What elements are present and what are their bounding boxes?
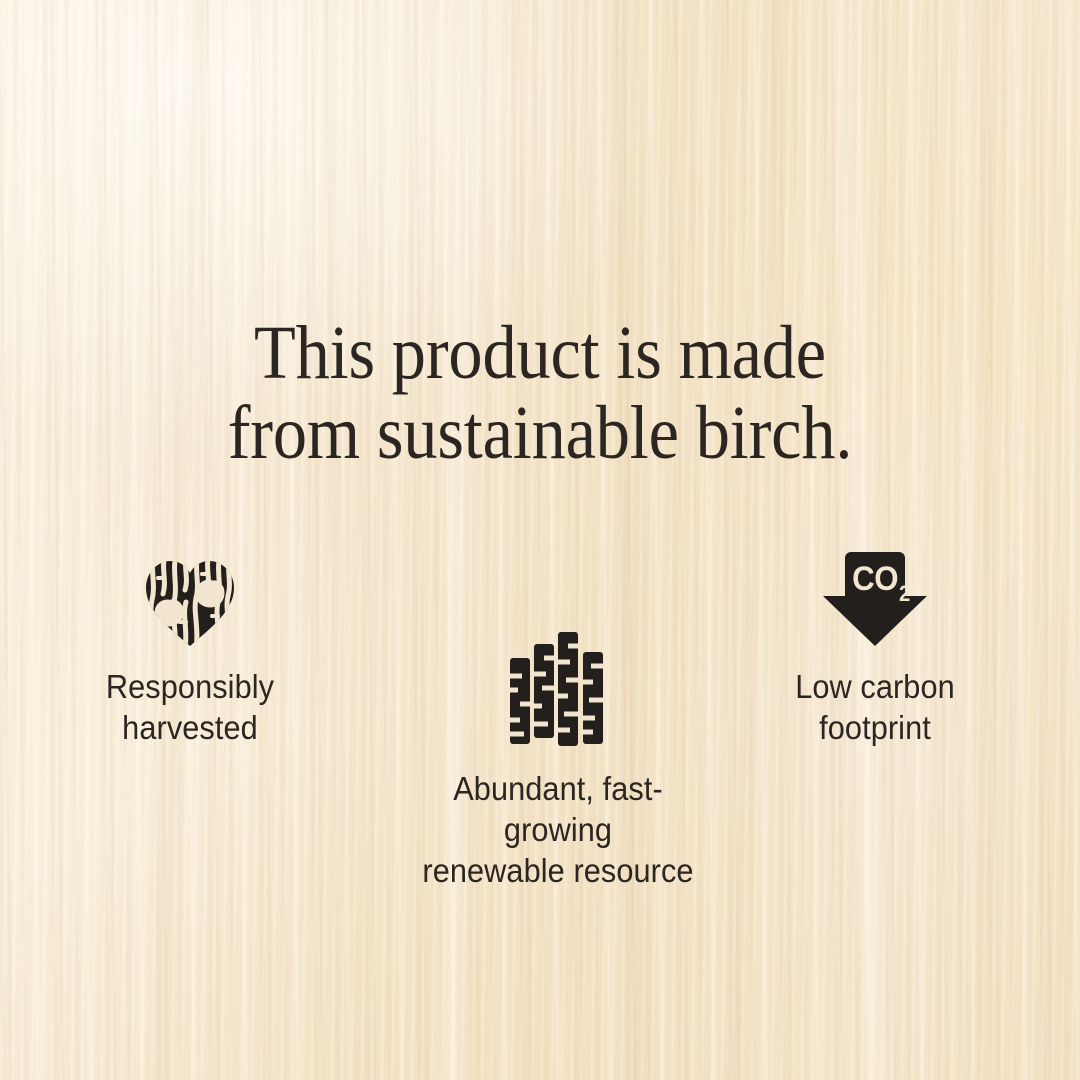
wood-grain-heart-icon [142,558,238,648]
birch-logs-icon-wrap [408,628,708,750]
content-layer: This product is made from sustainable bi… [0,0,1080,1080]
feature-label-renewable-resource: Abundant, fast-growing renewable resourc… [419,768,698,891]
birch-logs-icon [506,628,610,750]
feature-low-carbon-footprint: CO 2 Low carbon footprint [745,552,1005,748]
co2-icon-text: CO [852,559,898,598]
feature-label-responsibly-harvested: Responsibly harvested [69,666,311,748]
co2-icon-subscript: 2 [899,582,910,606]
sustainable-birch-graphic: This product is made from sustainable bi… [0,0,1080,1080]
headline: This product is made from sustainable bi… [54,313,1026,473]
feature-renewable-resource: Abundant, fast-growing renewable resourc… [408,628,708,891]
co2-down-arrow-icon-wrap: CO 2 [745,552,1005,648]
feature-responsibly-harvested: Responsibly harvested [60,552,320,748]
co2-down-arrow-icon: CO 2 [819,552,931,648]
wood-grain-heart-icon-wrap [60,552,320,648]
feature-label-low-carbon-footprint: Low carbon footprint [754,666,996,748]
